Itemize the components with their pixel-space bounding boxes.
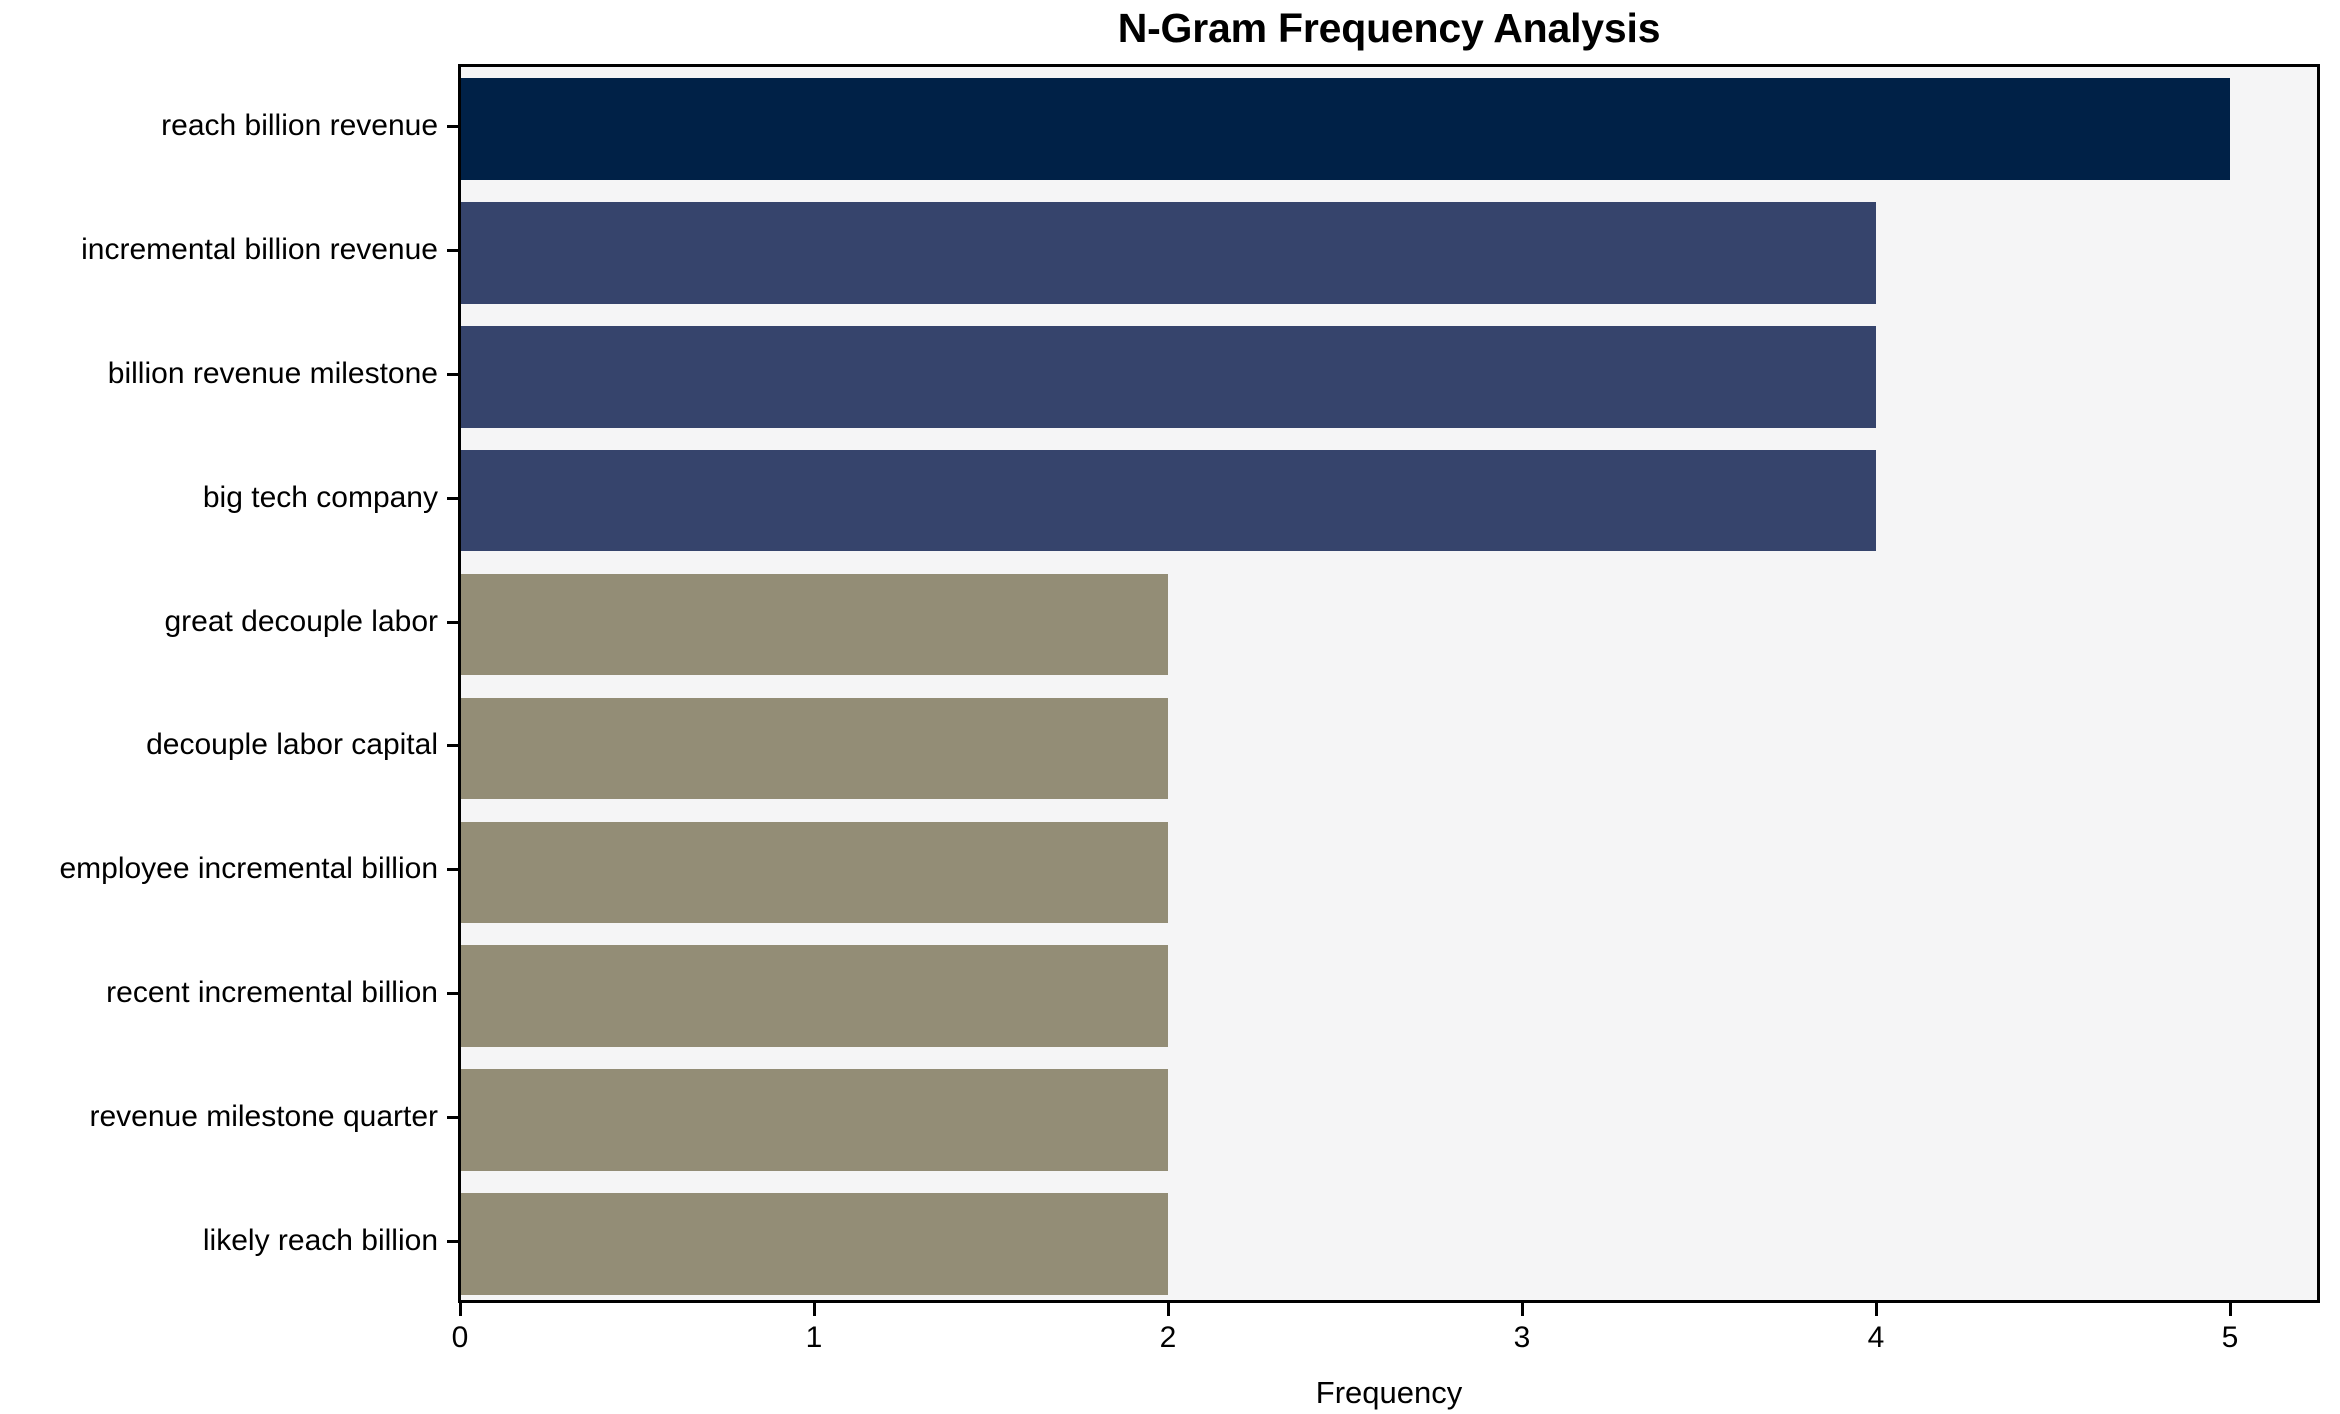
bar-1 (461, 202, 1876, 304)
x-tick-label-1: 1 (774, 1321, 854, 1355)
y-tick-label-2: billion revenue milestone (108, 357, 438, 391)
y-tick-mark-8 (447, 1116, 458, 1119)
x-tick-mark-5 (2229, 1303, 2232, 1316)
y-axis-tick-labels: reach billion revenueincremental billion… (0, 64, 452, 1303)
x-tick-mark-3 (1521, 1303, 1524, 1316)
y-tick-mark-3 (447, 497, 458, 500)
x-tick-mark-1 (813, 1303, 816, 1316)
bar-0 (461, 78, 2230, 180)
chart-figure: N-Gram Frequency Analysis reach billion … (0, 0, 2340, 1414)
y-tick-label-7: recent incremental billion (106, 976, 438, 1010)
y-tick-mark-6 (447, 868, 458, 871)
bar-5 (461, 698, 1168, 800)
x-tick-mark-4 (1875, 1303, 1878, 1316)
y-tick-label-4: great decouple labor (164, 605, 438, 639)
bar-7 (461, 945, 1168, 1047)
x-axis-label: Frequency (458, 1375, 2320, 1411)
y-tick-mark-0 (447, 125, 458, 128)
y-tick-mark-2 (447, 373, 458, 376)
bar-6 (461, 822, 1168, 924)
x-tick-mark-0 (459, 1303, 462, 1316)
x-tick-label-4: 4 (1836, 1321, 1916, 1355)
y-tick-label-6: employee incremental billion (59, 852, 438, 886)
x-tick-label-2: 2 (1128, 1321, 1208, 1355)
y-tick-label-1: incremental billion revenue (81, 233, 438, 267)
plot-area (458, 64, 2320, 1303)
y-tick-label-8: revenue milestone quarter (89, 1100, 438, 1134)
bar-2 (461, 326, 1876, 428)
x-tick-mark-2 (1167, 1303, 1170, 1316)
x-axis: Frequency 012345 (0, 1303, 2340, 1414)
y-tick-mark-1 (447, 249, 458, 252)
x-tick-label-0: 0 (420, 1321, 500, 1355)
y-tick-label-0: reach billion revenue (161, 109, 438, 143)
bar-4 (461, 574, 1168, 676)
x-tick-label-3: 3 (1482, 1321, 1562, 1355)
y-tick-label-5: decouple labor capital (146, 728, 438, 762)
y-tick-mark-9 (447, 1240, 458, 1243)
x-tick-label-5: 5 (2190, 1321, 2270, 1355)
y-tick-mark-4 (447, 621, 458, 624)
y-tick-mark-7 (447, 992, 458, 995)
y-tick-mark-5 (447, 744, 458, 747)
page-title: N-Gram Frequency Analysis (458, 4, 2320, 52)
bars-layer (461, 67, 2317, 1300)
bar-8 (461, 1069, 1168, 1171)
y-tick-label-3: big tech company (203, 481, 438, 515)
y-tick-label-9: likely reach billion (203, 1224, 438, 1258)
bar-9 (461, 1193, 1168, 1295)
bar-3 (461, 450, 1876, 552)
